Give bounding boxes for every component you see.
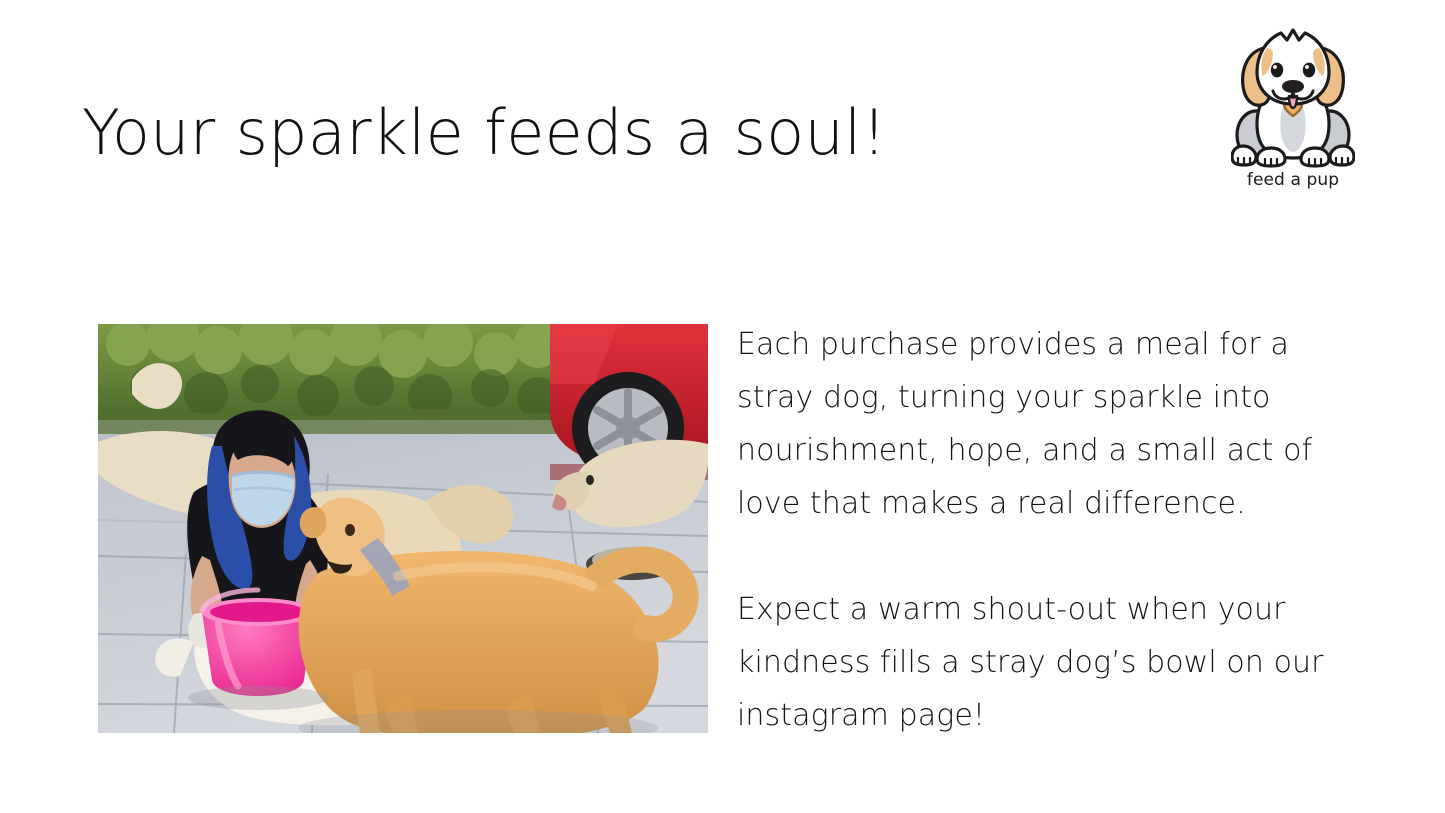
sitting-puppy-icon [1231,22,1355,172]
page-title: Your sparkle feeds a soul! [82,97,887,169]
paragraph-2: Expect a warm shout-out when your kindne… [737,583,1362,742]
photo-illustration [98,324,708,733]
stray-dog-feeding-photo [98,324,708,733]
brand-logo-caption: feed a pup [1226,170,1360,190]
paragraph-1: Each purchase provides a meal for a stra… [737,318,1362,530]
body-copy: Each purchase provides a meal for a stra… [737,318,1362,742]
brand-logo: feed a pup [1226,22,1360,190]
paragraph-spacer [737,530,1362,583]
